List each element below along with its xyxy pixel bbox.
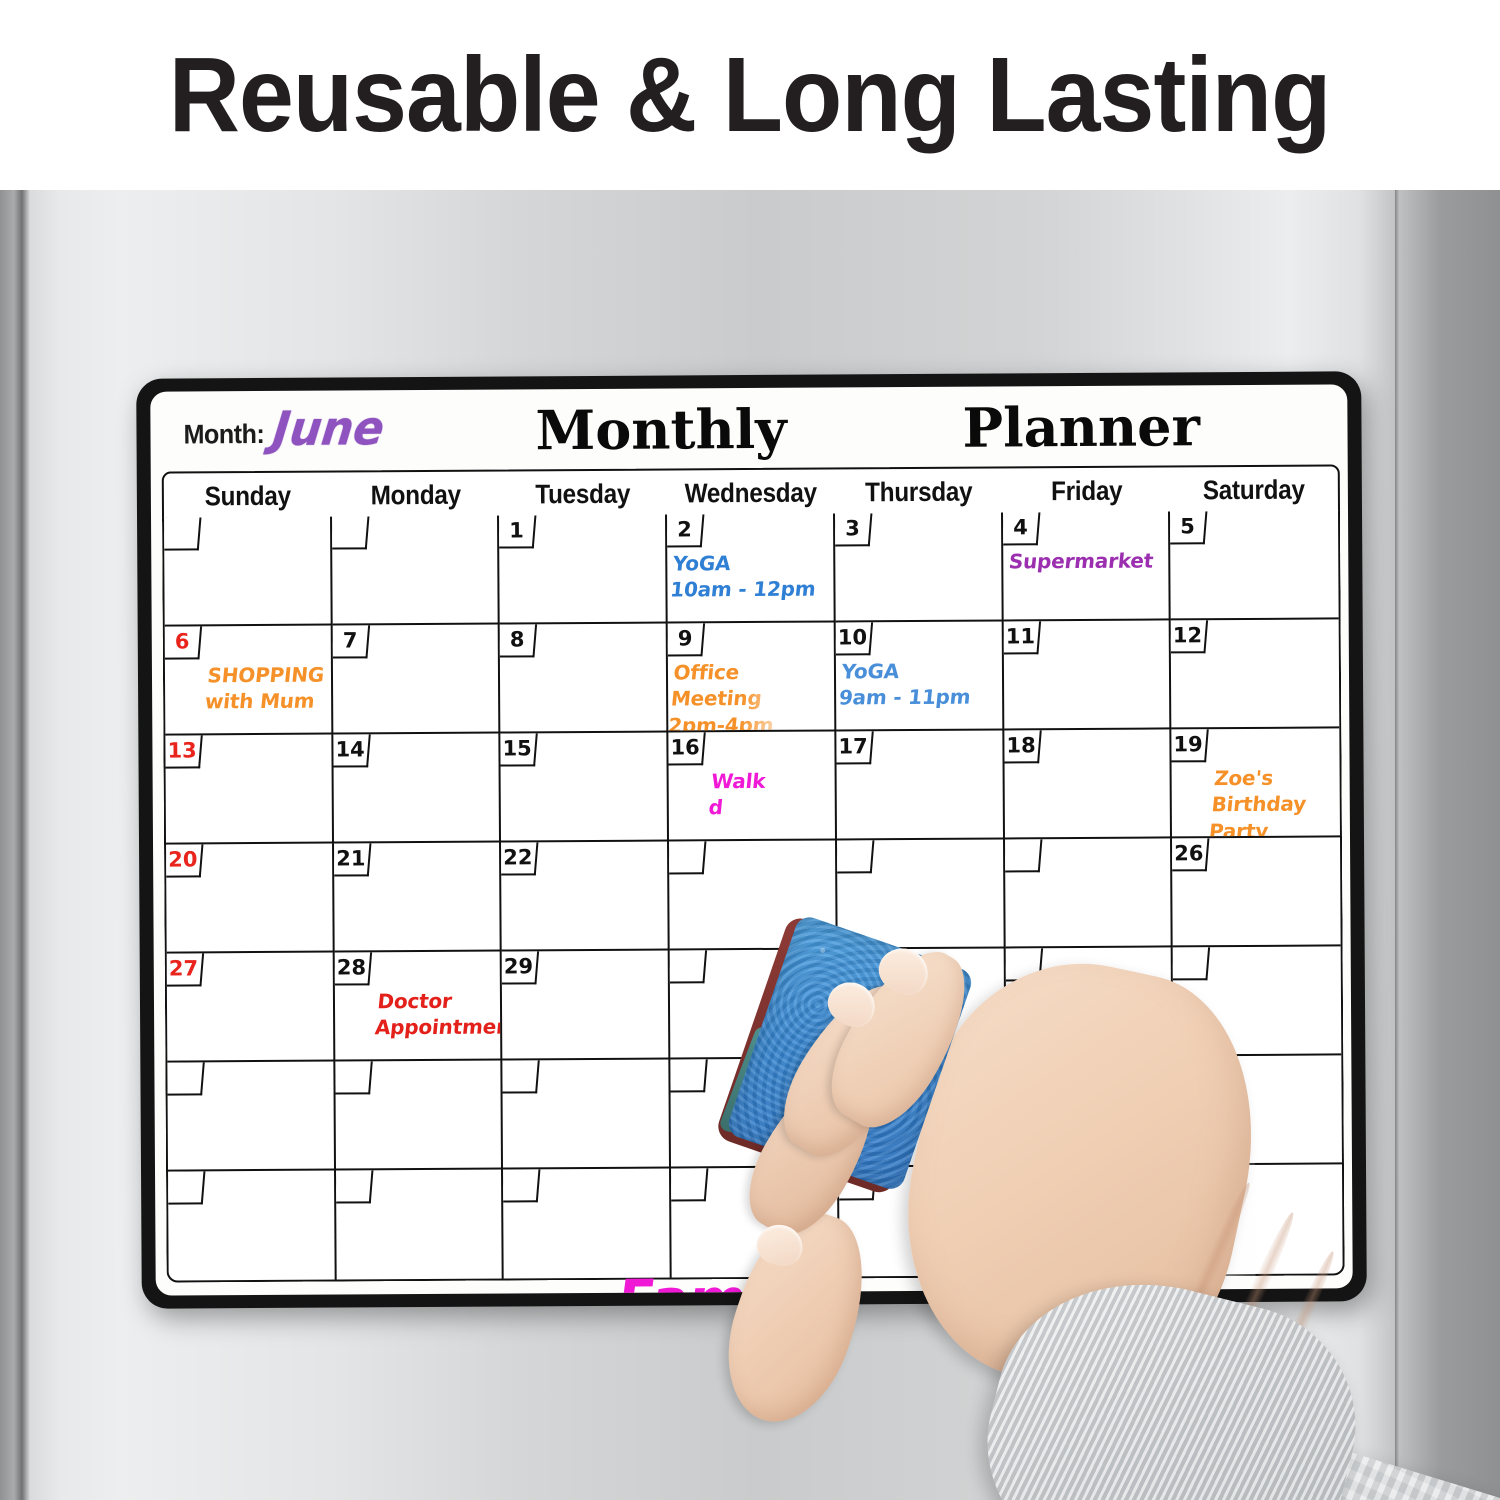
calendar-cell[interactable]: 16Walk d [668,731,836,841]
date-number-box: 9 [668,623,705,656]
date-number-box: 29 [502,951,539,984]
weekday-header-saturday: Saturday [1178,466,1329,513]
weekday-header-wednesday: Wednesday [675,470,826,517]
calendar-entry-text: Supermarket [1007,547,1164,574]
calendar-cell[interactable]: 17 [836,730,1004,840]
calendar-cell[interactable]: 6SHOPPING with Mum [165,626,333,736]
calendar-cell[interactable]: 18 [1004,729,1172,839]
hand-with-sponge [745,925,1500,1500]
date-number: 17 [839,736,868,757]
calendar-cell[interactable] [168,1171,336,1281]
date-number-box: 13 [165,735,202,768]
date-number: 11 [1006,626,1035,647]
date-number-box [671,1168,708,1201]
calendar-cell[interactable]: 13 [165,735,333,845]
calendar-cell[interactable]: 27 [167,953,335,1063]
date-number: 26 [1175,843,1204,864]
date-number-box [336,1170,373,1203]
date-number: 9 [678,628,693,649]
date-number-box [167,1062,204,1095]
calendar-cell[interactable]: 2YoGA 10am - 12pm [667,513,835,623]
date-number-box: 14 [333,734,370,767]
promo-headline: Reusable & Long Lasting [169,35,1331,156]
fridge-background: Month: June Monthly Planner SundayMonday… [0,190,1500,1500]
date-number-box: 8 [500,624,537,657]
date-number-box: 1 [499,515,536,548]
date-number-box [669,841,706,874]
weekday-header-sunday: Sunday [172,473,323,520]
date-number: 10 [838,627,867,648]
calendar-cell[interactable]: 3 [835,512,1003,622]
date-number-box [503,1169,540,1202]
date-number: 8 [510,629,525,650]
date-number: 27 [169,958,198,979]
date-number-box [168,1171,205,1204]
date-number: 13 [168,740,197,761]
date-number: 19 [1174,734,1203,755]
date-number-box: 6 [165,626,202,659]
calendar-cell[interactable]: 20 [166,844,334,954]
date-number: 16 [671,737,700,758]
date-number-box: 4 [1003,512,1040,545]
calendar-cell[interactable]: 21 [334,843,502,953]
calendar-entry-text: SHOPPING with Mum [204,662,327,716]
date-number-box: 17 [836,731,873,764]
date-number: 20 [169,849,198,870]
calendar-entry-text: Zoe's Birthday Party [1208,764,1336,838]
date-number-box [335,1061,372,1094]
date-number: 1 [509,520,524,541]
calendar-cell[interactable]: 7 [332,625,500,735]
grey-sweater-sleeve [990,1290,1500,1500]
calendar-cell[interactable]: 22 [501,842,669,952]
calendar-entry-text: Office Meeting 2pm-4pm [668,659,830,733]
date-number-box: 18 [1004,730,1041,763]
calendar-cell[interactable]: 29 [502,951,670,1061]
calendar-cell[interactable] [503,1168,671,1278]
calendar-cell[interactable] [503,1059,671,1169]
date-number: 28 [337,957,366,978]
calendar-cell[interactable] [335,1061,503,1171]
date-number-box: 2 [667,514,704,547]
month-label: Month: [183,419,264,450]
date-number-box [1005,839,1042,872]
date-number: 2 [677,519,692,540]
date-number-box: 28 [334,952,371,985]
date-number-box: 10 [836,622,873,655]
date-number: 4 [1012,517,1027,538]
date-number-box: 5 [1170,511,1207,544]
date-number: 5 [1180,516,1195,537]
calendar-cell[interactable]: 15 [501,733,669,843]
title-planner: Planner [962,394,1200,459]
date-number-box [164,517,201,550]
date-number-box: 16 [668,732,705,765]
date-number: 7 [342,630,357,651]
calendar-cell[interactable] [164,517,332,627]
date-number-box [332,516,369,549]
calendar-entry-text: YoGA 9am - 11pm [838,657,998,711]
calendar-entry-text: Walk d [707,768,830,822]
date-number-box [670,1059,707,1092]
date-number: 3 [845,518,860,539]
calendar-cell[interactable]: 1 [499,515,667,625]
date-number-box: 20 [166,844,203,877]
date-number: 6 [174,631,189,652]
date-number: 21 [336,848,365,869]
calendar-cell[interactable]: 4Supermarket [1003,511,1171,621]
date-number-box [670,950,707,983]
date-number-box: 21 [334,843,371,876]
date-number-box: 22 [501,842,538,875]
date-number: 29 [505,956,534,977]
calendar-cell[interactable]: 9Office Meeting 2pm-4pm [668,622,836,732]
weekday-header-monday: Monday [340,472,491,519]
calendar-cell[interactable]: 8 [500,624,668,734]
date-number-box: 26 [1172,838,1209,871]
calendar-cell[interactable] [332,516,500,626]
calendar-cell[interactable]: 11 [1003,620,1171,730]
calendar-cell[interactable]: 10YoGA 9am - 11pm [836,621,1004,731]
calendar-cell[interactable]: 12 [1171,619,1339,729]
calendar-cell[interactable]: 19Zoe's Birthday Party [1172,728,1340,838]
calendar-cell[interactable]: 28Doctor Appointment [334,952,502,1062]
weekday-header-thursday: Thursday [843,469,994,516]
calendar-entry-text: YoGA 10am - 12pm [669,550,829,604]
date-number-box: 15 [501,733,538,766]
date-number-box: 19 [1172,729,1209,762]
promo-banner: Reusable & Long Lasting [0,0,1500,190]
weekday-header-tuesday: Tuesday [508,471,659,518]
date-number-box: 7 [332,625,369,658]
family-handwritten-note: Family [346,1281,806,1296]
date-number-box: 11 [1003,621,1040,654]
date-number: 22 [504,847,533,868]
date-number-box [503,1060,540,1093]
date-number-box: 12 [1171,620,1208,653]
date-number-box: 27 [167,953,204,986]
calendar-entry-text: Doctor Appointment [373,988,496,1042]
calendar-cell[interactable]: 5 [1170,510,1338,620]
date-number: 12 [1173,625,1202,646]
calendar-cell[interactable] [336,1170,504,1280]
calendar-cell[interactable] [167,1062,335,1172]
calendar-cell[interactable]: 14 [333,734,501,844]
title-monthly: Monthly [535,397,787,463]
date-number: 15 [503,738,532,759]
date-number-box: 3 [835,513,872,546]
date-number: 18 [1006,735,1035,756]
date-number: 14 [336,739,365,760]
month-value-handwritten[interactable]: June [270,401,387,457]
date-number-box [837,840,874,873]
weekday-header-friday: Friday [1011,467,1162,514]
